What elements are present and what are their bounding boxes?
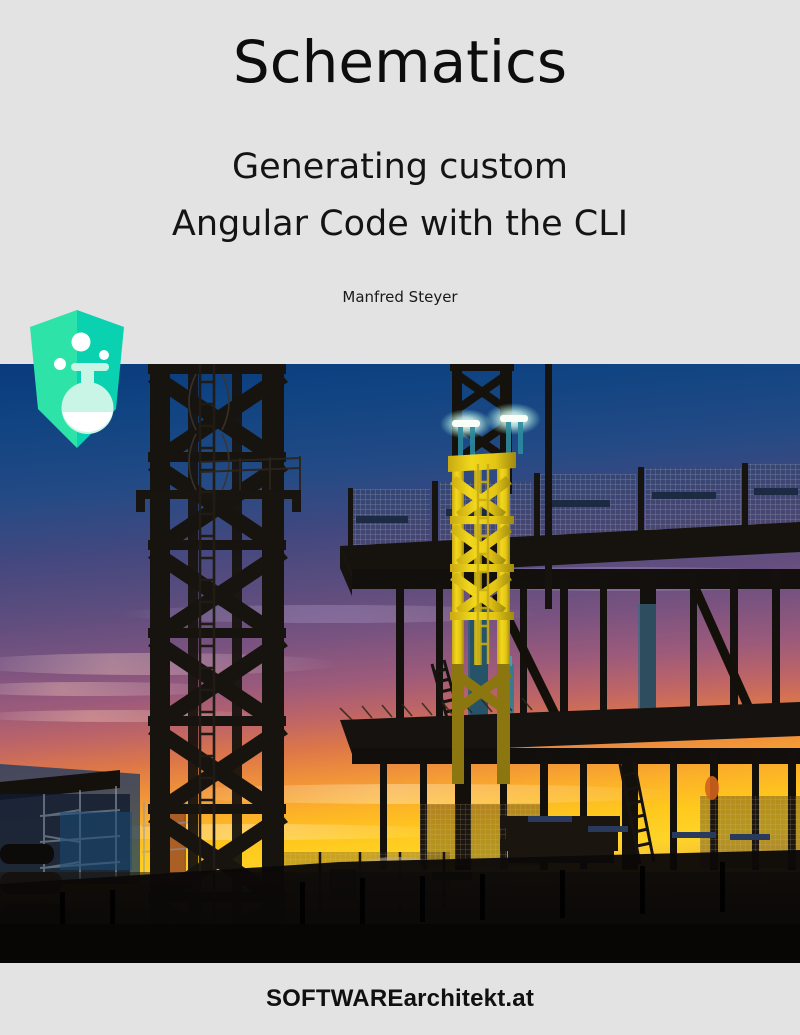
cover-footer: SOFTWAREarchitekt.at — [0, 963, 800, 1035]
book-cover: Schematics Generating custom Angular Cod… — [0, 0, 800, 1035]
bubble-small-left — [54, 358, 66, 370]
subtitle-line-1: Generating custom — [0, 148, 800, 187]
author-name: Manfred Steyer — [0, 288, 800, 306]
cover-photo — [0, 364, 800, 963]
brand-name: SOFTWAREarchitekt.at — [0, 985, 800, 1013]
angular-schematics-logo — [26, 308, 128, 450]
page-title: Schematics — [0, 31, 800, 95]
bubble-small-right — [99, 350, 109, 360]
bubble-large — [72, 333, 91, 352]
shield-left-half — [30, 310, 77, 448]
subtitle-line-2: Angular Code with the CLI — [0, 205, 800, 244]
